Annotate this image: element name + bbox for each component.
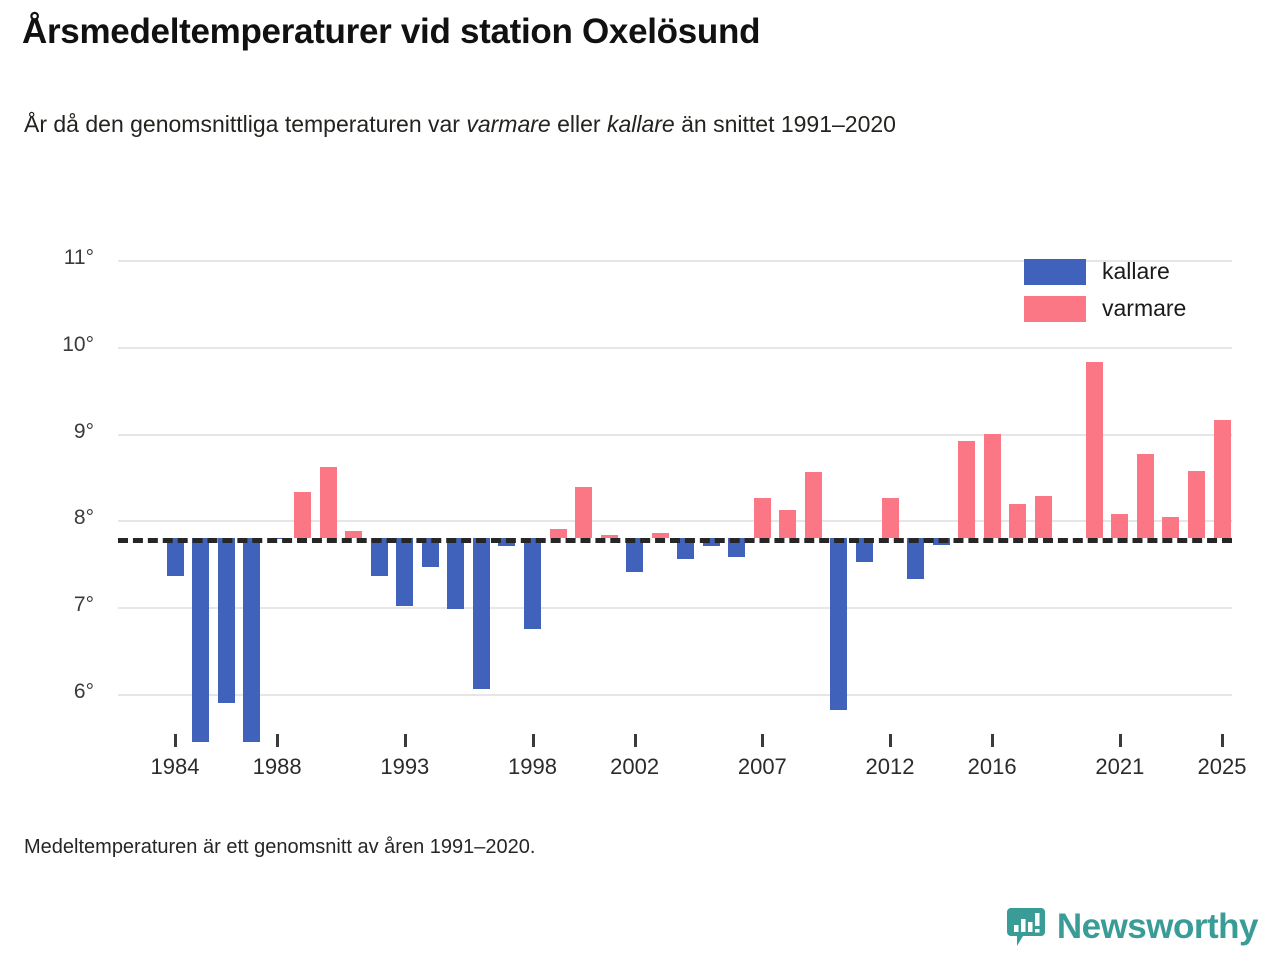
bar-2022[interactable] bbox=[1137, 454, 1154, 537]
x-axis-tick bbox=[404, 734, 407, 747]
legend-item-varmare[interactable]: varmare bbox=[1024, 295, 1186, 322]
chart-footnote: Medeltemperaturen är ett genomsnitt av å… bbox=[24, 836, 535, 859]
bar-1986[interactable] bbox=[218, 538, 235, 703]
subtitle-emphasis-kallare: kallare bbox=[607, 111, 675, 137]
brand-name: Newsworthy bbox=[1057, 907, 1258, 947]
legend-label-varmare: varmare bbox=[1102, 295, 1186, 322]
bar-1989[interactable] bbox=[294, 492, 311, 538]
x-axis-tick bbox=[276, 734, 279, 747]
bar-2002[interactable] bbox=[626, 538, 643, 573]
y-axis-tick-label: 11° bbox=[14, 246, 94, 270]
bar-2024[interactable] bbox=[1188, 471, 1205, 538]
x-axis-tick bbox=[174, 734, 177, 747]
x-axis-tick-label: 1988 bbox=[217, 754, 337, 780]
bar-chart-bubble-icon bbox=[1005, 906, 1047, 948]
bar-1992[interactable] bbox=[371, 538, 388, 576]
temperature-bar-chart: 6°7°8°9°10°11°19841988199319982002200720… bbox=[0, 236, 1280, 796]
subtitle-emphasis-varmare: varmare bbox=[466, 111, 550, 137]
x-axis-tick-label: 2016 bbox=[932, 754, 1052, 780]
bar-2021[interactable] bbox=[1111, 514, 1128, 537]
y-axis-tick-label: 6° bbox=[14, 680, 94, 704]
x-axis-tick bbox=[1221, 734, 1224, 747]
bar-1998[interactable] bbox=[524, 538, 541, 629]
bar-2013[interactable] bbox=[907, 538, 924, 579]
x-axis-tick bbox=[991, 734, 994, 747]
gridline bbox=[118, 694, 1232, 696]
subtitle-part-1: År då den genomsnittliga temperaturen va… bbox=[24, 111, 466, 137]
x-axis-tick bbox=[761, 734, 764, 747]
newsworthy-logo[interactable]: Newsworthy bbox=[1005, 906, 1258, 948]
bar-2015[interactable] bbox=[958, 441, 975, 537]
bar-2016[interactable] bbox=[984, 434, 1001, 538]
x-axis-tick-label: 2025 bbox=[1162, 754, 1280, 780]
bar-2009[interactable] bbox=[805, 472, 822, 538]
x-axis-tick bbox=[889, 734, 892, 747]
legend-swatch-varmare bbox=[1024, 296, 1086, 322]
legend-swatch-kallare bbox=[1024, 259, 1086, 285]
bar-1987[interactable] bbox=[243, 538, 260, 742]
x-axis-tick bbox=[1119, 734, 1122, 747]
gridline bbox=[118, 434, 1232, 436]
y-axis-tick-label: 9° bbox=[14, 420, 94, 444]
bar-2008[interactable] bbox=[779, 510, 796, 538]
page-subtitle: År då den genomsnittliga temperaturen va… bbox=[24, 108, 1204, 141]
bar-2020[interactable] bbox=[1086, 362, 1103, 538]
bar-1993[interactable] bbox=[396, 538, 413, 607]
x-axis-tick-label: 1993 bbox=[345, 754, 465, 780]
subtitle-part-3: än snittet 1991–2020 bbox=[675, 111, 896, 137]
bar-1996[interactable] bbox=[473, 538, 490, 689]
x-axis-tick-label: 2002 bbox=[575, 754, 695, 780]
gridline bbox=[118, 347, 1232, 349]
y-axis-tick-label: 10° bbox=[14, 333, 94, 357]
page-title: Årsmedeltemperaturer vid station Oxelösu… bbox=[22, 12, 760, 52]
bar-1984[interactable] bbox=[167, 538, 184, 576]
bar-2000[interactable] bbox=[575, 487, 592, 538]
bar-1995[interactable] bbox=[447, 538, 464, 609]
bar-1990[interactable] bbox=[320, 467, 337, 537]
subtitle-part-2: eller bbox=[551, 111, 607, 137]
bar-2010[interactable] bbox=[830, 538, 847, 710]
bar-2007[interactable] bbox=[754, 498, 771, 538]
average-reference-line bbox=[118, 538, 1232, 543]
gridline bbox=[118, 607, 1232, 609]
bar-2012[interactable] bbox=[882, 498, 899, 538]
y-axis-tick-label: 7° bbox=[14, 593, 94, 617]
bar-1999[interactable] bbox=[550, 529, 567, 538]
chart-legend: kallare varmare bbox=[1024, 258, 1186, 332]
legend-item-kallare[interactable]: kallare bbox=[1024, 258, 1186, 285]
gridline bbox=[118, 520, 1232, 522]
bar-1985[interactable] bbox=[192, 538, 209, 742]
legend-label-kallare: kallare bbox=[1102, 258, 1170, 285]
bar-2025[interactable] bbox=[1214, 420, 1231, 538]
y-axis-tick-label: 8° bbox=[14, 506, 94, 530]
bar-2018[interactable] bbox=[1035, 496, 1052, 538]
x-axis-tick bbox=[532, 734, 535, 747]
x-axis-tick-label: 2007 bbox=[702, 754, 822, 780]
bar-2023[interactable] bbox=[1162, 517, 1179, 538]
bar-1991[interactable] bbox=[345, 531, 362, 538]
x-axis-tick bbox=[634, 734, 637, 747]
bar-2017[interactable] bbox=[1009, 504, 1026, 538]
